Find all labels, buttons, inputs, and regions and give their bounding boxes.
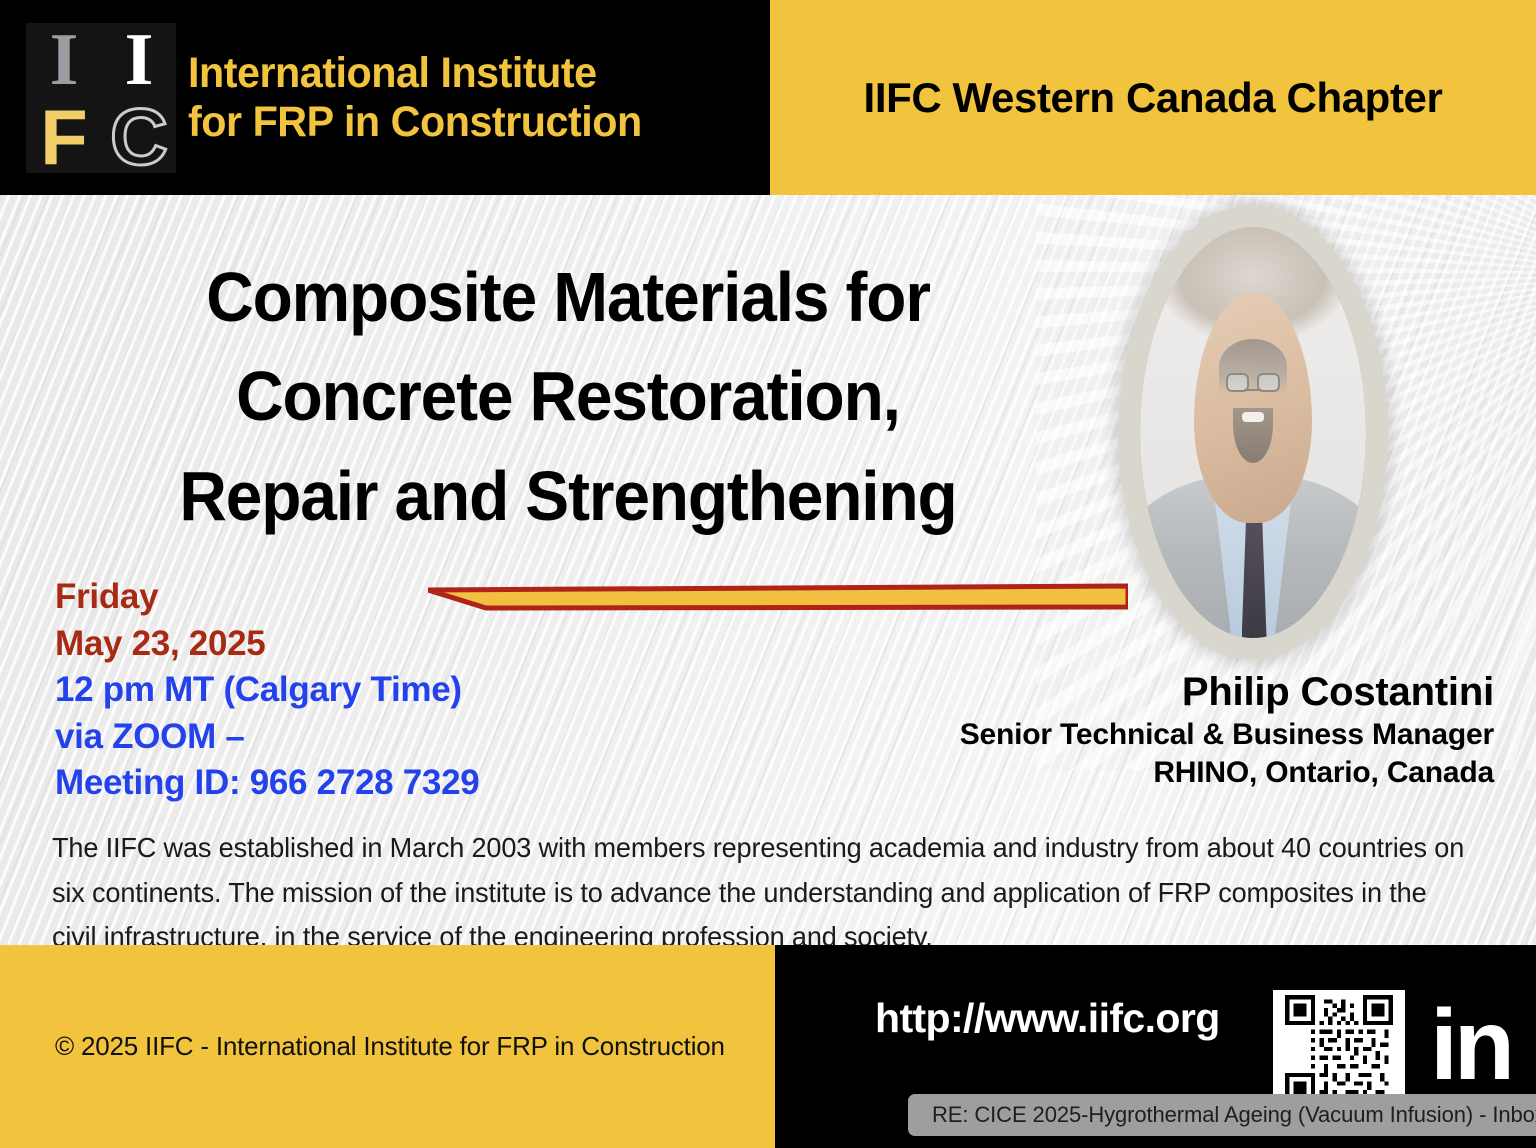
event-meeting-id: Meeting ID: 966 2728 7329 [55, 760, 479, 807]
copyright-text: © 2025 IIFC - International Institute fo… [55, 1031, 725, 1062]
portrait-photo [1140, 227, 1366, 638]
portrait-inner [1140, 227, 1366, 638]
taskbar-tooltip-text: RE: CICE 2025-Hygrothermal Ageing (Vacuu… [932, 1102, 1536, 1128]
speaker-name: Philip Costantini [960, 668, 1494, 716]
event-time: 12 pm MT (Calgary Time) [55, 667, 479, 714]
qr-code-icon[interactable] [1273, 990, 1405, 1108]
linkedin-glyph: in [1430, 1003, 1511, 1088]
speaker-organization: RHINO, Ontario, Canada [960, 754, 1494, 792]
about-paragraph: The IIFC was established in March 2003 w… [52, 826, 1470, 960]
footer-left-panel: © 2025 IIFC - International Institute fo… [0, 945, 775, 1148]
organization-name: International Institute for FRP in Const… [188, 49, 642, 145]
website-link[interactable]: http://www.iifc.org [875, 995, 1220, 1042]
event-details-block: Friday May 23, 2025 12 pm MT (Calgary Ti… [55, 574, 479, 807]
portrait-head [1194, 293, 1312, 523]
speaker-role: Senior Technical & Business Manager [960, 716, 1494, 754]
linkedin-icon[interactable]: in [1423, 990, 1518, 1100]
page-title: Composite Materials for Concrete Restora… [79, 248, 1057, 546]
header-right-panel: IIFC Western Canada Chapter [770, 0, 1536, 195]
glasses-bridge [1244, 389, 1263, 391]
speaker-info-block: Philip Costantini Senior Technical & Bus… [960, 668, 1494, 791]
logo-letter-i1: I [50, 23, 78, 97]
logo-letter-c: C [110, 97, 167, 177]
event-platform: via ZOOM – [55, 714, 479, 761]
event-day: Friday [55, 574, 479, 621]
taskbar-tooltip[interactable]: RE: CICE 2025-Hygrothermal Ageing (Vacuu… [908, 1094, 1536, 1136]
header-bar: I I F C International Institute for FRP … [0, 0, 1536, 195]
header-left-panel: I I F C International Institute for FRP … [0, 0, 770, 195]
webinar-flyer: I I F C International Institute for FRP … [0, 0, 1536, 1148]
iifc-logo-icon: I I F C [26, 23, 176, 173]
event-date: May 23, 2025 [55, 621, 479, 668]
logo-letter-i2: I [125, 23, 153, 97]
portrait-mouth [1242, 412, 1263, 421]
decorative-arrow-icon [428, 583, 1128, 611]
logo-letter-f: F [40, 98, 87, 176]
speaker-portrait [1118, 205, 1388, 660]
chapter-title: IIFC Western Canada Chapter [864, 74, 1443, 122]
